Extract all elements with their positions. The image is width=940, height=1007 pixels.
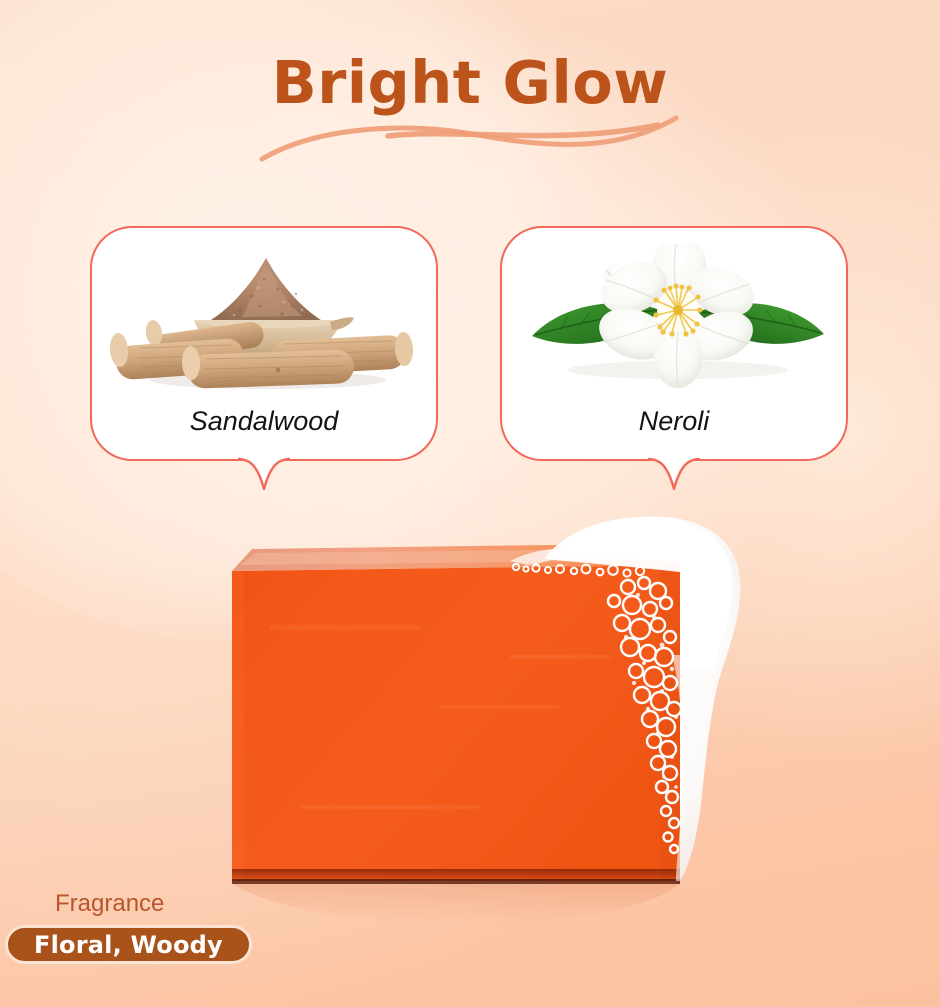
product-image [210, 505, 770, 925]
page-title: Bright Glow [0, 52, 940, 114]
fragrance-label: Fragrance [55, 890, 164, 918]
fragrance-value: Floral, Woody [34, 931, 223, 959]
ingredient-label: Sandalwood [92, 406, 436, 437]
fragrance-badge: Floral, Woody [5, 925, 252, 964]
ingredient-card-sandalwood[interactable]: Sandalwood [90, 226, 438, 461]
ingredient-label: Neroli [502, 406, 846, 437]
card-pointer-tail [238, 457, 290, 493]
ingredient-card-list: Sandalwood [0, 226, 940, 486]
ingredient-card-neroli[interactable]: Neroli [500, 226, 848, 461]
sandalwood-powder-and-logs-icon [92, 244, 436, 394]
neroli-white-flower-icon [502, 244, 846, 394]
title-swoosh-decoration [258, 112, 688, 170]
card-pointer-tail [648, 457, 700, 493]
product-poster: Bright Glow [0, 0, 940, 1007]
